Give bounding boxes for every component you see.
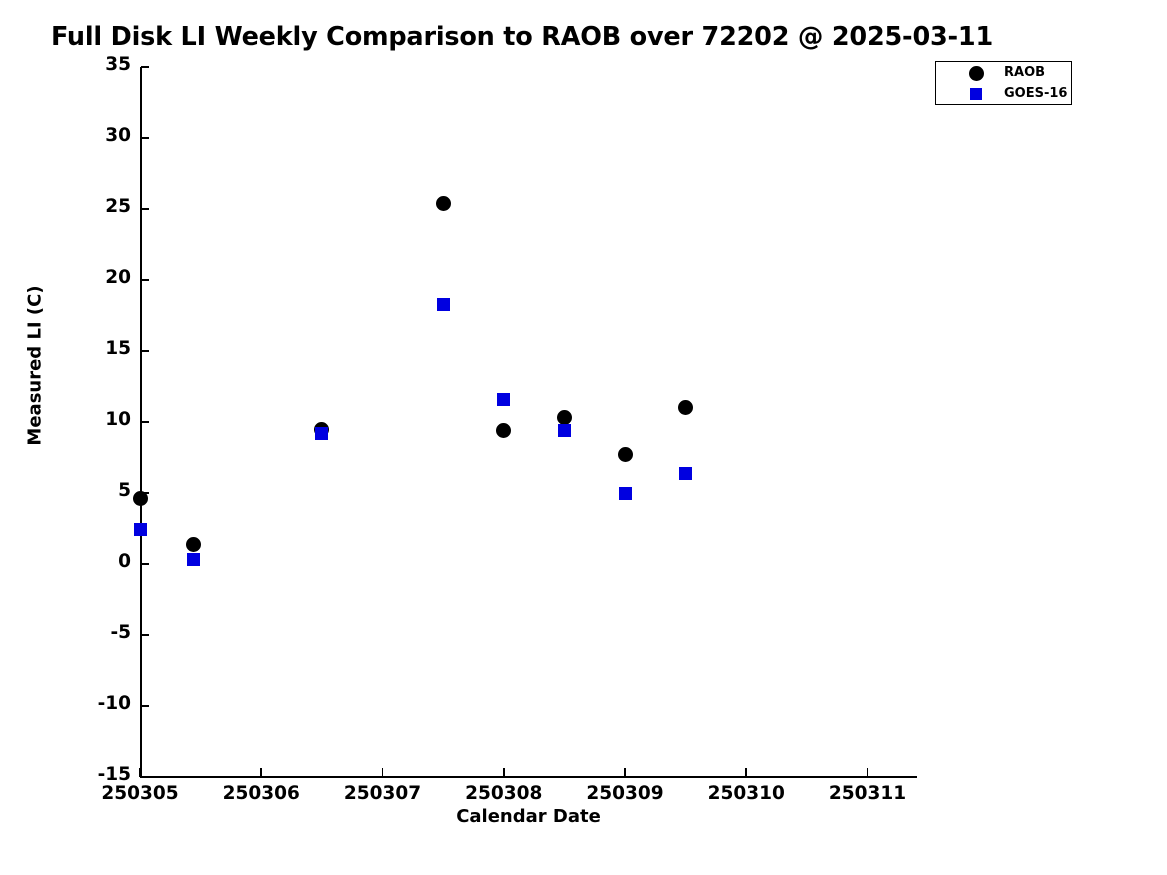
- y-tick-label: 5: [75, 480, 131, 501]
- y-tick-label: 30: [75, 125, 131, 146]
- y-tick-label: -10: [75, 693, 131, 714]
- legend-marker-wrap: [958, 83, 994, 105]
- data-point-raob: [678, 400, 693, 415]
- data-point-goes16: [437, 298, 450, 311]
- y-tick-label: -15: [75, 764, 131, 785]
- data-point-raob: [557, 410, 572, 425]
- data-point-raob: [618, 447, 633, 462]
- legend-label: GOES-16: [1004, 86, 1067, 101]
- data-point-goes16: [134, 523, 147, 536]
- data-point-goes16: [497, 393, 510, 406]
- x-axis-label: Calendar Date: [140, 806, 917, 827]
- chart-title: Full Disk LI Weekly Comparison to RAOB o…: [0, 22, 1044, 52]
- data-point-goes16: [558, 424, 571, 437]
- chart-legend: RAOBGOES-16: [935, 61, 1072, 105]
- data-point-goes16: [679, 467, 692, 480]
- chart-figure: Full Disk LI Weekly Comparison to RAOB o…: [0, 0, 1167, 875]
- y-tick-label: 15: [75, 338, 131, 359]
- y-tick-label: 25: [75, 196, 131, 217]
- y-tick-label: 20: [75, 267, 131, 288]
- data-point-raob: [436, 196, 451, 211]
- y-tick-label: -5: [75, 622, 131, 643]
- data-point-raob: [133, 491, 148, 506]
- y-tick-label: 0: [75, 551, 131, 572]
- data-point-raob: [496, 423, 511, 438]
- legend-marker-wrap: [958, 62, 994, 84]
- data-point-raob: [186, 537, 201, 552]
- y-tick-label: 35: [75, 54, 131, 75]
- circle-marker-icon: [969, 66, 984, 81]
- y-tick-label: 10: [75, 409, 131, 430]
- data-point-goes16: [315, 427, 328, 440]
- y-axis-label: Measured LI (C): [25, 166, 46, 566]
- x-tick-label: 250306: [191, 783, 331, 804]
- legend-entry: GOES-16: [936, 83, 1073, 105]
- legend-label: RAOB: [1004, 65, 1045, 80]
- data-point-goes16: [619, 487, 632, 500]
- x-tick-label: 250305: [70, 783, 210, 804]
- x-tick-label: 250308: [434, 783, 574, 804]
- plot-area: [140, 67, 916, 777]
- data-point-goes16: [187, 553, 200, 566]
- legend-entry: RAOB: [936, 62, 1073, 84]
- square-marker-icon: [970, 88, 982, 100]
- x-tick-label: 250309: [555, 783, 695, 804]
- x-tick-label: 250307: [313, 783, 453, 804]
- x-tick-label: 250311: [798, 783, 938, 804]
- x-tick-label: 250310: [676, 783, 816, 804]
